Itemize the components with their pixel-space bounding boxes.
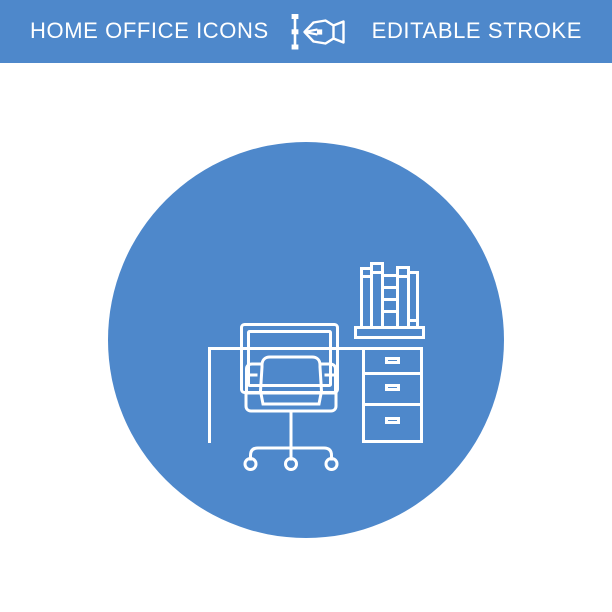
page-root: HOME OFFICE ICONS EDITABLE STROKE <box>0 0 612 612</box>
badge-circle <box>108 142 504 538</box>
header-bar: HOME OFFICE ICONS EDITABLE STROKE <box>0 0 612 63</box>
header-right-title: EDITABLE STROKE <box>372 20 582 42</box>
header-left-title: HOME OFFICE ICONS <box>30 20 269 42</box>
home-office-illustration <box>0 63 612 612</box>
pen-nib-icon <box>285 9 355 55</box>
icon-stage <box>0 63 612 612</box>
